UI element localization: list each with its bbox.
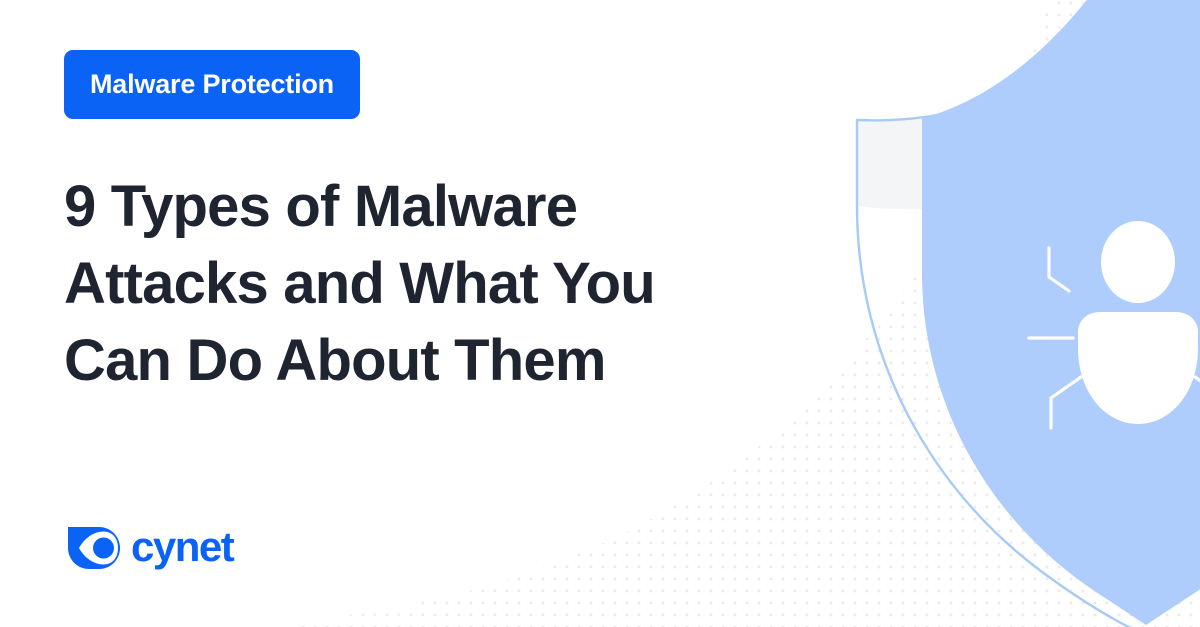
hero-banner: Malware Protection 9 Types of Malware At…: [0, 0, 1200, 627]
category-badge-label: Malware Protection: [90, 69, 334, 100]
cynet-eye-mark: [68, 527, 122, 569]
hero-content: Malware Protection 9 Types of Malware At…: [0, 0, 780, 627]
bug-icon: [1029, 221, 1200, 428]
cynet-wordmark-text: cynet: [131, 526, 235, 570]
category-badge[interactable]: Malware Protection: [64, 50, 360, 119]
cynet-wordmark: cynet: [131, 526, 259, 570]
outer-shield-band: [857, 0, 1200, 627]
inner-shield: [922, 0, 1200, 625]
cynet-logo[interactable]: cynet: [68, 518, 259, 578]
page-title: 9 Types of Malware Attacks and What You …: [64, 168, 764, 399]
